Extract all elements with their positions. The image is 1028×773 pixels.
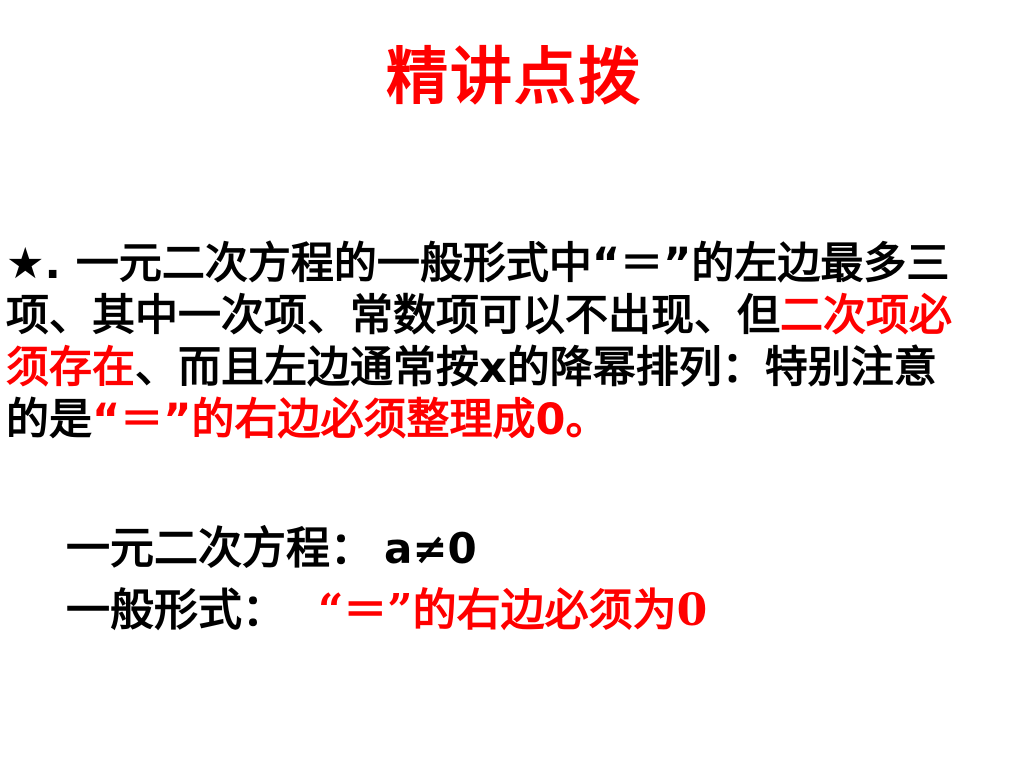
paragraph-line-2-segment-1: 项、其中一次项、常数项可以不出现、但 <box>6 291 780 341</box>
paragraph-line-3-segment-1-highlight: 须存在 <box>6 343 135 393</box>
summary-block: 一元二次方程：a≠0 一般形式：“＝”的右边必须为0 <box>66 518 1016 642</box>
summary-row-quadratic-equation: 一元二次方程：a≠0 <box>66 518 1016 580</box>
paragraph-line-4-segment-1: 的是 <box>6 395 92 445</box>
paragraph-line-3-segment-2: 、而且左边通常按x的降幂排列：特别注意 <box>135 343 937 393</box>
summary-label-general-form: 一般形式： <box>66 585 286 636</box>
paragraph-line-3: 须存在、而且左边通常按x的降幂排列：特别注意 <box>6 342 1022 394</box>
explanation-paragraph: ★. 一元二次方程的一般形式中“＝”的左边最多三 项、其中一次项、常数项可以不出… <box>6 238 1022 446</box>
summary-value-quadratic-equation: a≠0 <box>384 524 477 573</box>
paragraph-line-1: ★. 一元二次方程的一般形式中“＝”的左边最多三 <box>6 238 1022 290</box>
paragraph-line-4-segment-2-highlight: “＝”的右边必须整理成0。 <box>92 395 608 445</box>
paragraph-line-2-segment-2-highlight: 二次项必 <box>780 291 952 341</box>
paragraph-line-1-segment-1: ★. 一元二次方程的一般形式中“＝”的左边最多三 <box>6 239 949 289</box>
summary-label-quadratic-equation: 一元二次方程： <box>66 523 374 574</box>
summary-value-general-form: “＝”的右边必须为0 <box>318 585 707 636</box>
paragraph-line-2: 项、其中一次项、常数项可以不出现、但二次项必 <box>6 290 1022 342</box>
paragraph-line-4: 的是“＝”的右边必须整理成0。 <box>6 394 1022 446</box>
page-title: 精讲点拨 <box>0 40 1028 114</box>
slide-canvas: 精讲点拨 ★. 一元二次方程的一般形式中“＝”的左边最多三 项、其中一次项、常数… <box>0 0 1028 773</box>
summary-row-general-form: 一般形式：“＝”的右边必须为0 <box>66 580 1016 642</box>
